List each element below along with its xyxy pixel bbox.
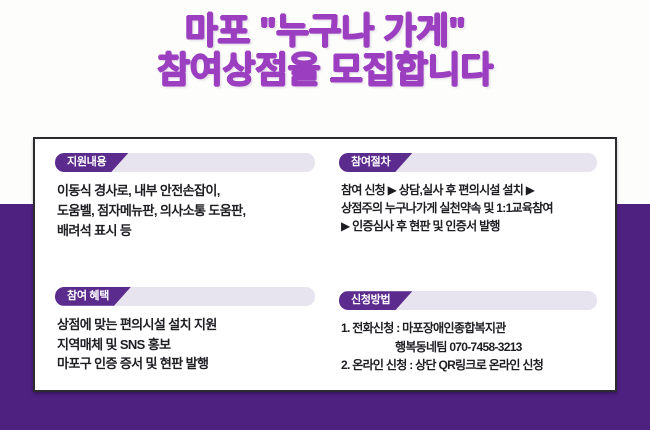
section-support-details: 지원내용 이동식 경사로, 내부 안전손잡이, 도움벨, 점자메뉴판, 의사소통… (55, 153, 315, 240)
body-support-details: 이동식 경사로, 내부 안전손잡이, 도움벨, 점자메뉴판, 의사소통 도움판,… (55, 181, 315, 240)
section-application-method: 신청방법 1. 전화신청 : 마포장애인종합복지관 행복동네팀 070-7458… (339, 291, 597, 374)
title-line-1: 마포 "누구나 가게" (0, 12, 650, 49)
badge-tag-application-method: 신청방법 (339, 291, 412, 310)
body-line: 참여 신청 ▶ 상담,실사 후 편의시설 설치 ▶ (341, 181, 597, 199)
body-line: 1. 전화신청 : 마포장애인종합복지관 (341, 319, 597, 337)
badge-bar-participation-process: 참여절차 (339, 153, 597, 172)
poster-canvas: 마포 "누구나 가게" 참여상점을 모집합니다 지원내용 이동식 경사로, 내부… (0, 0, 650, 430)
body-line: 상점주의 누구나가게 실천약속 및 1:1교육참여 (341, 199, 597, 217)
badge-label-application-method: 신청방법 (351, 295, 390, 306)
body-line: 이동식 경사로, 내부 안전손잡이, (57, 181, 315, 201)
title-line-2: 참여상점을 모집합니다 (0, 51, 650, 88)
section-participation-benefits: 참여 혜택 상점에 맞는 편의시설 설치 지원 지역매체 및 SNS 홍보 마포… (55, 287, 315, 374)
badge-bar-support-details: 지원내용 (55, 153, 315, 172)
badge-tag-participation-process: 참여절차 (339, 153, 412, 172)
body-line: ▶ 인증심사 후 현판 및 인증서 발행 (341, 217, 597, 235)
badge-label-participation-benefits: 참여 혜택 (67, 291, 109, 302)
badge-tag-participation-benefits: 참여 혜택 (55, 287, 131, 306)
body-participation-benefits: 상점에 맞는 편의시설 설치 지원 지역매체 및 SNS 홍보 마포구 인증 증… (55, 315, 315, 374)
badge-label-participation-process: 참여절차 (351, 157, 390, 168)
section-participation-process: 참여절차 참여 신청 ▶ 상담,실사 후 편의시설 설치 ▶ 상점주의 누구나가… (339, 153, 597, 236)
body-line: 마포구 인증 증서 및 현판 발행 (57, 354, 315, 374)
body-line: 도움벨, 점자메뉴판, 의사소통 도움판, (57, 201, 315, 221)
body-participation-process: 참여 신청 ▶ 상담,실사 후 편의시설 설치 ▶ 상점주의 누구나가게 실천약… (339, 181, 597, 236)
right-column: 참여절차 참여 신청 ▶ 상담,실사 후 편의시설 설치 ▶ 상점주의 누구나가… (325, 153, 605, 380)
page-title: 마포 "누구나 가게" 참여상점을 모집합니다 (0, 12, 650, 89)
body-line: 지역매체 및 SNS 홍보 (57, 335, 315, 355)
badge-bar-participation-benefits: 참여 혜택 (55, 287, 315, 306)
badge-tag-support-details: 지원내용 (55, 153, 128, 172)
body-line-phone: 행복동네팀 070-7458-3213 (341, 338, 597, 356)
body-line: 배려석 표시 등 (57, 221, 315, 241)
body-line: 2. 온라인 신청 : 상단 QR링크로 온라인 신청 (341, 356, 597, 374)
badge-label-support-details: 지원내용 (67, 157, 106, 168)
content-card: 지원내용 이동식 경사로, 내부 안전손잡이, 도움벨, 점자메뉴판, 의사소통… (33, 137, 617, 392)
body-line: 상점에 맞는 편의시설 설치 지원 (57, 315, 315, 335)
right-column-spacer (339, 242, 597, 292)
left-column: 지원내용 이동식 경사로, 내부 안전손잡이, 도움벨, 점자메뉴판, 의사소통… (45, 153, 325, 380)
body-application-method: 1. 전화신청 : 마포장애인종합복지관 행복동네팀 070-7458-3213… (339, 319, 597, 374)
badge-bar-application-method: 신청방법 (339, 291, 597, 310)
left-column-spacer (55, 246, 315, 287)
